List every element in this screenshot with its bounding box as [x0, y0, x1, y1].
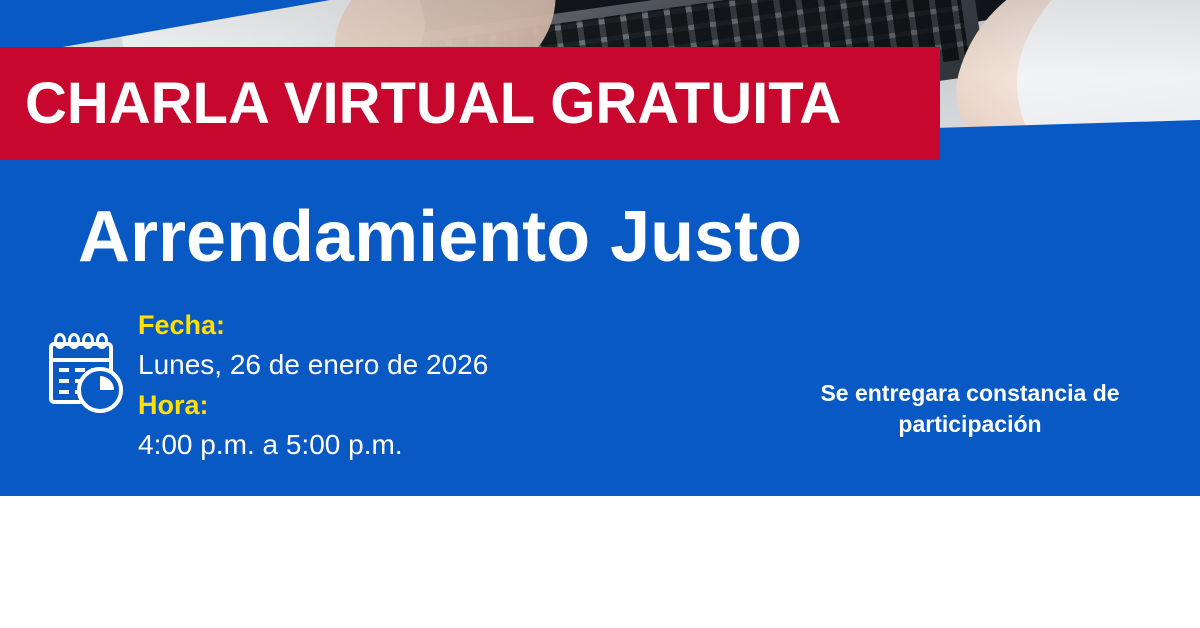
poster-canvas: CHARLA VIRTUAL GRATUITA Arrendamiento Ju…: [0, 0, 1200, 628]
certificate-note: Se entregara constancia de participación: [770, 378, 1170, 440]
date-value: Lunes, 26 de enero de 2026: [138, 344, 488, 386]
footer-bar: REPÚBLICA DEL PERÚ: [0, 496, 1200, 628]
red-ribbon-bar: CHARLA VIRTUAL GRATUITA: [0, 47, 940, 160]
event-info-lines: Fecha: Lunes, 26 de enero de 2026 Hora: …: [138, 306, 488, 466]
event-info-block: Fecha: Lunes, 26 de enero de 2026 Hora: …: [46, 306, 686, 466]
ribbon-title: CHARLA VIRTUAL GRATUITA: [25, 47, 841, 160]
time-label: Hora:: [138, 386, 488, 424]
page-title: Arrendamiento Justo: [78, 196, 1078, 278]
time-value: 4:00 p.m. a 5:00 p.m.: [138, 424, 488, 466]
date-label: Fecha:: [138, 306, 488, 344]
calendar-clock-icon: [46, 332, 124, 418]
